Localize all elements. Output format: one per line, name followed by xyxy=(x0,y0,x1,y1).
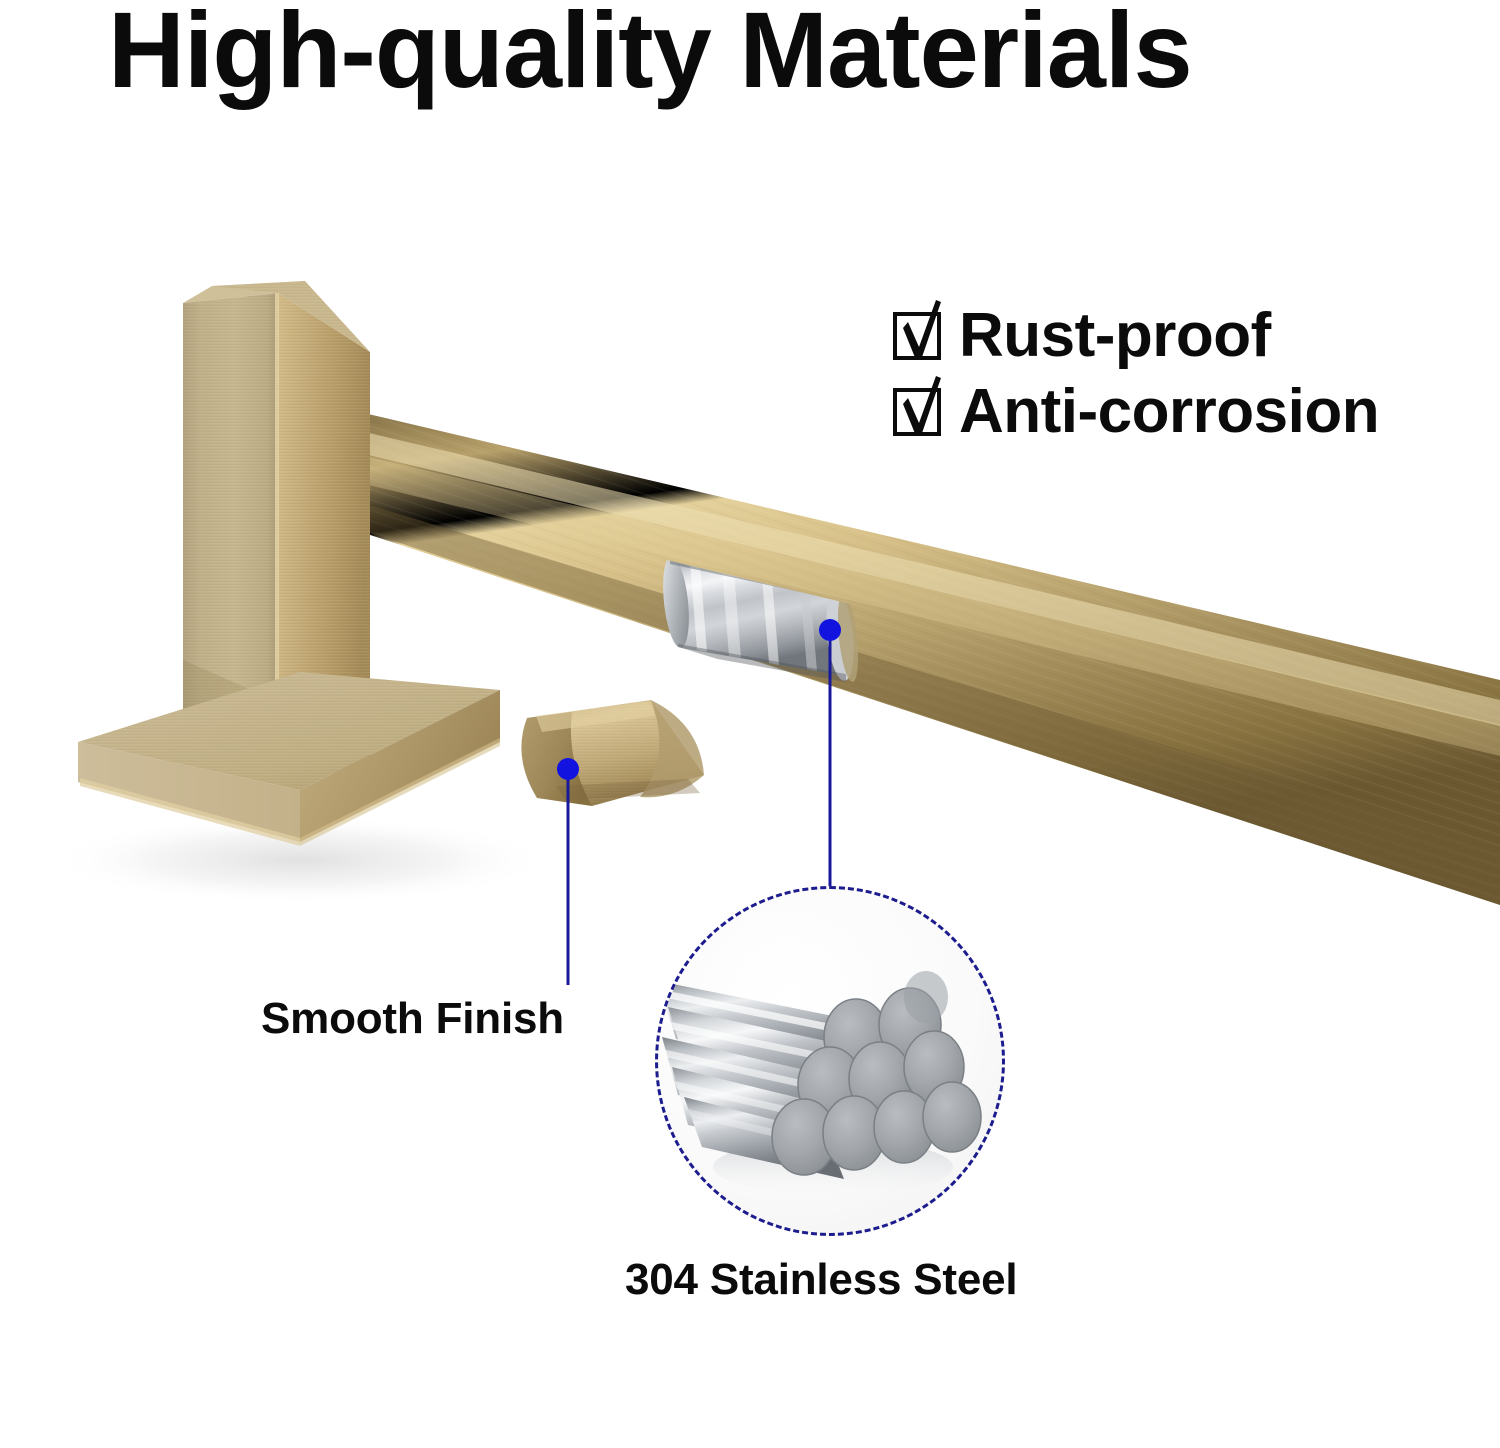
callout-label-stainless-steel: 304 Stainless Steel xyxy=(625,1255,1017,1305)
product-infographic: High-quality Materials xyxy=(0,0,1500,1448)
callout-line-stainless-steel xyxy=(829,630,832,888)
feature-item-anti-corrosion: Anti-corrosion xyxy=(893,381,1379,443)
callout-line-smooth-finish xyxy=(567,769,570,985)
steel-rod-bundle-magnifier xyxy=(655,886,1005,1236)
callout-dot-stainless-steel xyxy=(819,619,841,641)
rod-end-cap xyxy=(272,395,332,514)
feature-label-anti-corrosion: Anti-corrosion xyxy=(959,381,1379,443)
checkbox-checked-icon xyxy=(893,312,941,360)
checkbox-checked-icon xyxy=(893,388,941,436)
mounting-post xyxy=(183,281,370,793)
feature-label-rust-proof: Rust-proof xyxy=(959,305,1271,367)
rod-end-faces xyxy=(772,971,981,1175)
feature-item-rust-proof: Rust-proof xyxy=(893,305,1379,367)
feature-list: Rust-proof Anti-corrosion xyxy=(893,305,1379,443)
towel-rod xyxy=(272,395,1500,905)
callout-label-smooth-finish: Smooth Finish xyxy=(261,994,564,1044)
tube-sample-segment xyxy=(521,700,704,806)
page-title: High-quality Materials xyxy=(108,0,1192,111)
callout-dot-smooth-finish xyxy=(557,758,579,780)
base-plate xyxy=(78,672,500,846)
base-shadow xyxy=(50,816,550,904)
